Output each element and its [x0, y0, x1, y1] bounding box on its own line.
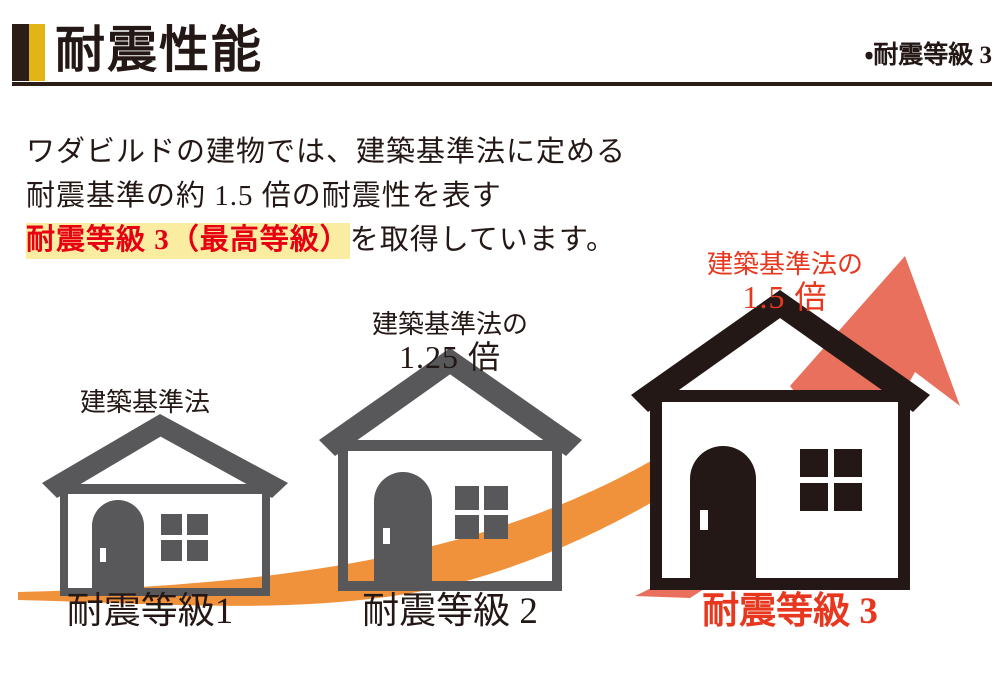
house-2-door	[374, 472, 432, 591]
house-2-label-top-line1: 建築基準法の	[330, 308, 570, 341]
header-accent-bar-dark	[12, 24, 29, 81]
house-1-label-top: 建築基準法	[30, 386, 260, 419]
house-3-door-handle	[700, 510, 708, 530]
house-2-label-bottom: 耐震等級 2	[320, 589, 580, 635]
house-1-wall-top	[60, 484, 270, 494]
house-3-label-top-line1: 建築基準法の	[660, 248, 910, 281]
house-1-door-handle	[100, 548, 106, 562]
house-1	[42, 414, 288, 596]
body-copy-line-2: 耐震基準の約 1.5 倍の耐震性を表す	[26, 174, 686, 218]
house-3-door	[690, 446, 756, 590]
house-3-wall-top	[650, 390, 910, 402]
house-2-label-top: 建築基準法の 1.25 倍	[330, 308, 570, 374]
header-subtitle-note: ・耐震等級 3	[865, 40, 992, 72]
house-2-window	[455, 486, 508, 539]
house-1-door	[92, 500, 144, 596]
house-3-label-top: 建築基準法の 1.5 倍	[660, 248, 910, 314]
house-3-label-bottom: 耐震等級 3	[650, 589, 930, 635]
house-3-label-top-line2: 1.5 倍	[660, 281, 910, 314]
slide-root: 耐震性能 ・耐震等級 3 ワダビルドの建物では、建築基準法に定める 耐震基準の約…	[0, 0, 1000, 678]
house-2-wall-top	[338, 440, 562, 451]
header-accent-bar-gold	[29, 24, 45, 81]
house-1-label-bottom: 耐震等級1	[20, 589, 280, 635]
house-2-door-handle	[383, 528, 390, 544]
page-title: 耐震性能	[55, 19, 263, 81]
body-copy-line-1: ワダビルドの建物では、建築基準法に定める	[26, 130, 686, 174]
header-divider	[12, 82, 992, 86]
house-2-label-top-line2: 1.25 倍	[330, 341, 570, 374]
house-1-window	[161, 514, 208, 561]
